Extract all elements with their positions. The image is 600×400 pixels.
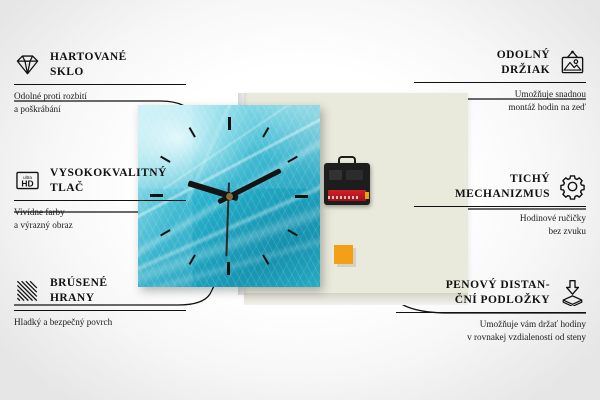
feature-description: Hladký a bezpečný povrch — [14, 316, 186, 329]
feature-divider — [14, 84, 186, 85]
feature-divider — [414, 206, 586, 207]
foam-pad-press-icon — [559, 279, 586, 306]
feature-header: PENOVÝ DISTAN- ČNÍ PODLOŽKY — [396, 278, 586, 307]
feature-title: HARTOVANÉ SKLO — [50, 50, 127, 79]
feature-durable-hanger: ODOLNÝ DRŽIAK Umožňuje snadnou montáž ho… — [414, 48, 586, 114]
feature-foam-spacers: PENOVÝ DISTAN- ČNÍ PODLOŽKY Umožňuje vám… — [396, 278, 586, 344]
feature-divider — [14, 200, 186, 201]
feature-description: Vivídne farby a výrazný obraz — [14, 206, 186, 231]
feature-description: Odolné proti rozbití a poškrábání — [14, 90, 186, 115]
feature-title: ODOLNÝ DRŽIAK — [497, 48, 550, 77]
feature-header: BRÚSENÉ HRANY — [14, 276, 186, 305]
feature-divider — [396, 312, 586, 313]
feature-divider — [414, 82, 586, 83]
polished-edge-icon — [14, 277, 41, 304]
feature-description: Umožňuje vám držať hodiny v rovnakej vzd… — [396, 318, 586, 343]
gear-icon — [559, 173, 586, 200]
infographic-canvas: HARTOVANÉ SKLO Odolné proti rozbití a po… — [0, 0, 600, 400]
feature-high-quality-print: ultra HD VYSOKOKVALITNÝ TLAČ Vivídne far… — [14, 166, 186, 232]
feature-title: BRÚSENÉ HRANY — [50, 276, 108, 305]
battery-label-stripes — [328, 196, 358, 199]
mechanism-slot — [329, 170, 342, 180]
feature-title: PENOVÝ DISTAN- ČNÍ PODLOŽKY — [446, 278, 550, 307]
mechanism-body — [324, 163, 370, 205]
foam-distance-pad — [334, 245, 353, 264]
feature-tempered-glass: HARTOVANÉ SKLO Odolné proti rozbití a po… — [14, 50, 186, 116]
feature-divider — [14, 310, 186, 311]
feature-header: ultra HD VYSOKOKVALITNÝ TLAČ — [14, 166, 186, 195]
svg-text:HD: HD — [21, 179, 33, 189]
picture-hanger-icon — [559, 49, 586, 76]
feature-silent-mechanism: TICHÝ MECHANIZMUS Hodinové ručičky bez z… — [414, 172, 586, 238]
feature-header: HARTOVANÉ SKLO — [14, 50, 186, 79]
ultra-hd-badge-icon: ultra HD — [14, 167, 41, 194]
mechanism-slot — [346, 170, 363, 180]
clock-center-cap — [226, 193, 233, 200]
feature-header: TICHÝ MECHANIZMUS — [414, 172, 586, 201]
feature-header: ODOLNÝ DRŽIAK — [414, 48, 586, 77]
feature-description: Hodinové ručičky bez zvuku — [414, 212, 586, 237]
feature-title: TICHÝ MECHANIZMUS — [455, 172, 550, 201]
feature-title: VYSOKOKVALITNÝ TLAČ — [50, 166, 167, 195]
clock-mechanism — [324, 163, 370, 205]
clock-tick — [229, 195, 313, 197]
feature-description: Umožňuje snadnou montáž hodin na zeď — [414, 88, 586, 113]
diamond-icon — [14, 51, 41, 78]
feature-polished-edges: BRÚSENÉ HRANY Hladký a bezpečný povrch — [14, 276, 186, 329]
